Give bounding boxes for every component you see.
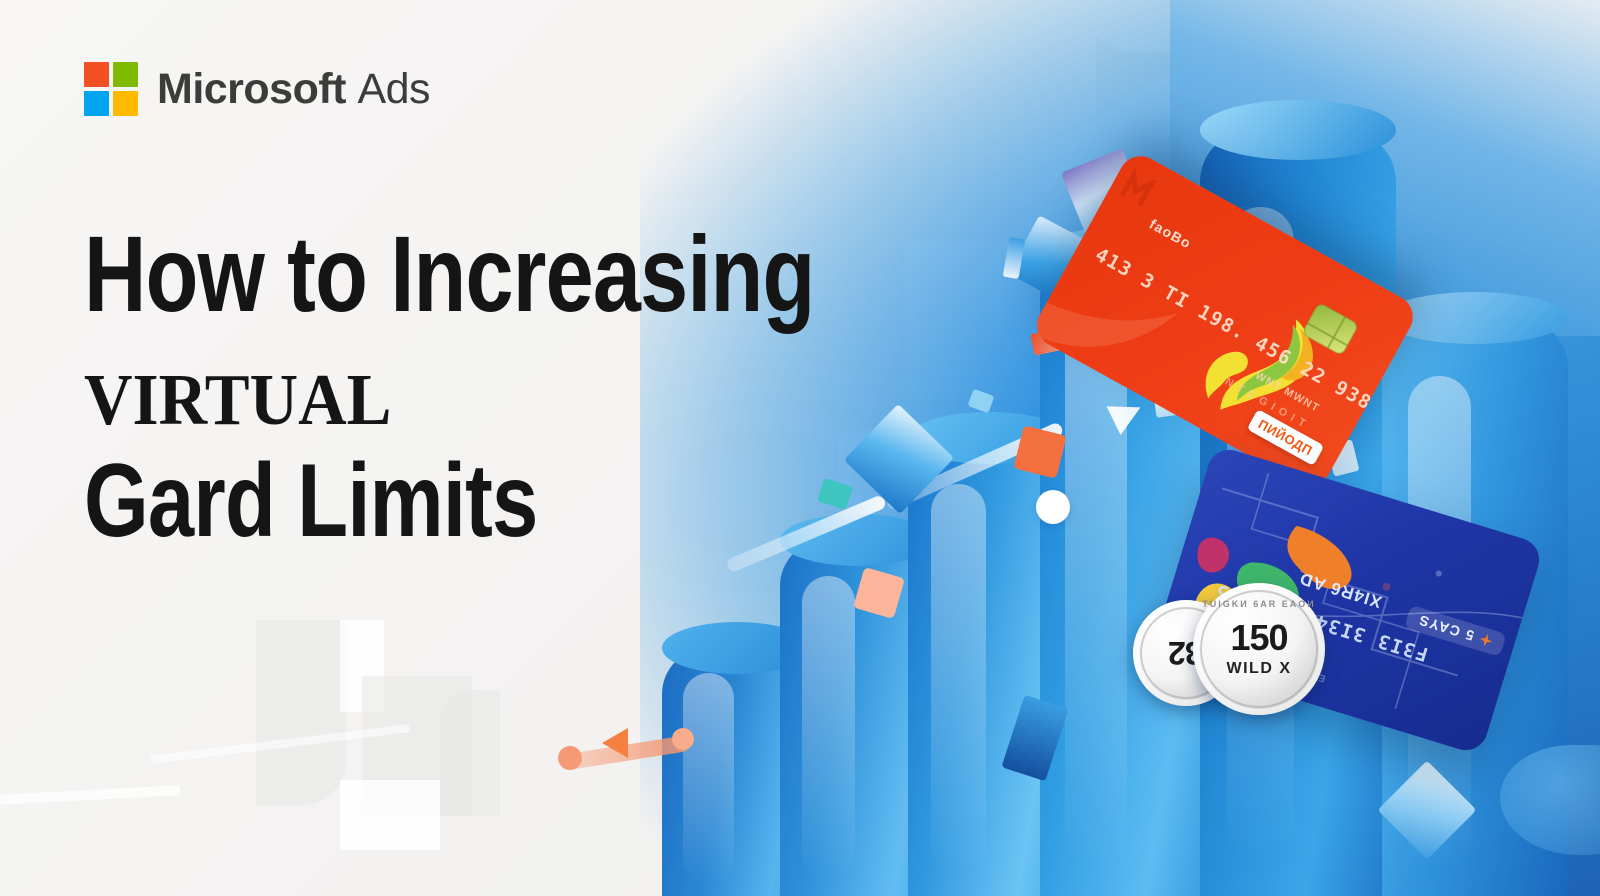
chart-bar-3-gloss	[931, 484, 986, 875]
chart-bar-1-gloss	[683, 673, 734, 886]
microsoft-logo-icon	[84, 62, 138, 116]
chart-bar-5-cap	[1200, 100, 1396, 160]
headline-block: How to Increasing Virtual Gard Limits	[84, 222, 914, 551]
logo-square-blue	[84, 91, 109, 116]
ghost-block-5	[440, 690, 500, 816]
logo-word-microsoft: Microsoft	[157, 65, 346, 113]
headline-line-3: Gard Limits	[84, 452, 748, 552]
logo-square-red	[84, 62, 109, 87]
logo-square-green	[113, 62, 138, 87]
coral-trend-dot-2	[672, 728, 694, 750]
ghost-block-1	[256, 620, 346, 805]
logo-square-yellow	[113, 91, 138, 116]
microsoft-ads-logo[interactable]: Microsoft Ads	[84, 62, 430, 116]
chart-bar-2-gloss	[802, 576, 855, 880]
coral-trend-arrow-head	[602, 728, 628, 758]
spark-icon	[1478, 632, 1495, 649]
coin-front: TUIGKИ 6AR EAOИ 150 WILD X	[1193, 583, 1325, 715]
trend-arrow-node	[1036, 490, 1070, 524]
headline-line-2: Virtual	[84, 340, 848, 440]
card-mark-red: faoBo	[1147, 216, 1195, 252]
logo-wordmark: Microsoft Ads	[157, 68, 430, 111]
card-m-mark-red	[1120, 168, 1173, 216]
ghost-block-4	[340, 780, 440, 850]
banner-canvas: 413 3 TI 198. 456 22 938 WNT MWNT N T E …	[0, 0, 1600, 896]
chart-bar-4-gloss	[1065, 317, 1127, 866]
coin-front-rim-text: TUIGKИ 6AR EAOИ	[1202, 599, 1315, 609]
headline-line-1: How to Increasing	[84, 222, 748, 326]
logo-word-ads: Ads	[357, 65, 430, 113]
coral-trend-dot	[558, 746, 582, 770]
